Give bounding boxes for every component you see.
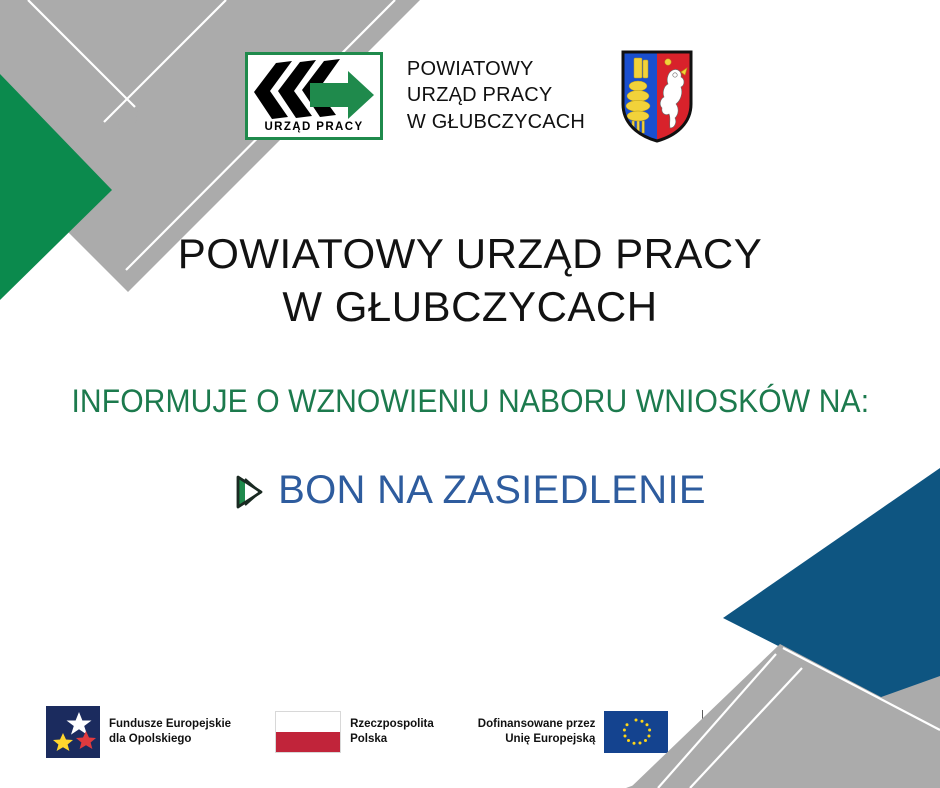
- poland-flag-white-stripe: [276, 712, 340, 732]
- main-title-line-2: W GŁUBCZYCACH: [0, 281, 940, 334]
- opolskie-tower-icon: [729, 708, 753, 756]
- main-title-line-1: POWIATOWY URZĄD PRACY: [0, 228, 940, 281]
- main-title-block: POWIATOWY URZĄD PRACY W GŁUBCZYCACH: [0, 228, 940, 334]
- rzeczpospolita-polska-logo: Rzeczpospolita Polska: [275, 711, 434, 753]
- rzeczpospolita-text-block: Rzeczpospolita Polska: [350, 717, 434, 747]
- rzeczpospolita-line-1: Rzeczpospolita: [350, 717, 434, 732]
- office-name-line-2: URZĄD PRACY: [407, 84, 585, 108]
- subtitle-text: INFORMUJE O WZNOWIENIU NABORU WNIOSKÓW N…: [71, 382, 869, 420]
- poland-flag-red-stripe: [276, 732, 340, 752]
- rzeczpospolita-line-2: Polska: [350, 732, 434, 747]
- crest-star-icon: [665, 59, 671, 65]
- unia-text-block: Dofinansowane przez Unię Europejską: [478, 717, 596, 747]
- subtitle-block: INFORMUJE O WZNOWIENIU NABORU WNIOSKÓW N…: [0, 382, 940, 420]
- pup-logo-badge: URZĄD PRACY: [245, 52, 383, 140]
- play-triangle-bullet-icon: [234, 475, 264, 509]
- unia-line-1: Dofinansowane przez: [478, 717, 596, 732]
- office-name-line-1: POWIATOWY: [407, 58, 585, 82]
- fundusze-line-1: Fundusze Europejskie: [109, 717, 231, 732]
- footer-logo-strip: Fundusze Europejskie dla Opolskiego Rzec…: [46, 704, 939, 760]
- office-name-line-3: W GŁUBCZYCACH: [407, 111, 585, 135]
- bullet-text: BON NA ZASIEDLENIE: [278, 468, 706, 512]
- slide-canvas: URZĄD PRACY POWIATOWY URZĄD PRACY W GŁUB…: [0, 0, 940, 788]
- fundusze-line-2: dla Opolskiego: [109, 732, 231, 747]
- fundusze-text-block: Fundusze Europejskie dla Opolskiego: [109, 717, 231, 747]
- header-logo-row: URZĄD PRACY POWIATOWY URZĄD PRACY W GŁUB…: [0, 48, 940, 144]
- opolskie-logo: OPOLSKIE: [729, 708, 938, 756]
- pup-badge-label: URZĄD PRACY: [264, 121, 363, 133]
- footer-divider: [702, 710, 703, 754]
- eu-flag-icon: [604, 711, 668, 753]
- office-name-block: POWIATOWY URZĄD PRACY W GŁUBCZYCACH: [407, 58, 585, 135]
- opolskie-wordmark: OPOLSKIE: [763, 716, 938, 749]
- pup-logo-graphic: URZĄD PRACY: [248, 55, 380, 137]
- unia-line-2: Unię Europejską: [478, 732, 596, 747]
- unia-europejska-logo: Dofinansowane przez Unię Europejską: [478, 711, 669, 753]
- bullet-block: BON NA ZASIEDLENIE: [0, 468, 940, 512]
- poland-flag-icon: [275, 711, 341, 753]
- fundusze-stars-icon: [46, 706, 100, 758]
- county-crest-icon: [619, 48, 695, 144]
- fundusze-europejskie-logo: Fundusze Europejskie dla Opolskiego: [46, 706, 231, 758]
